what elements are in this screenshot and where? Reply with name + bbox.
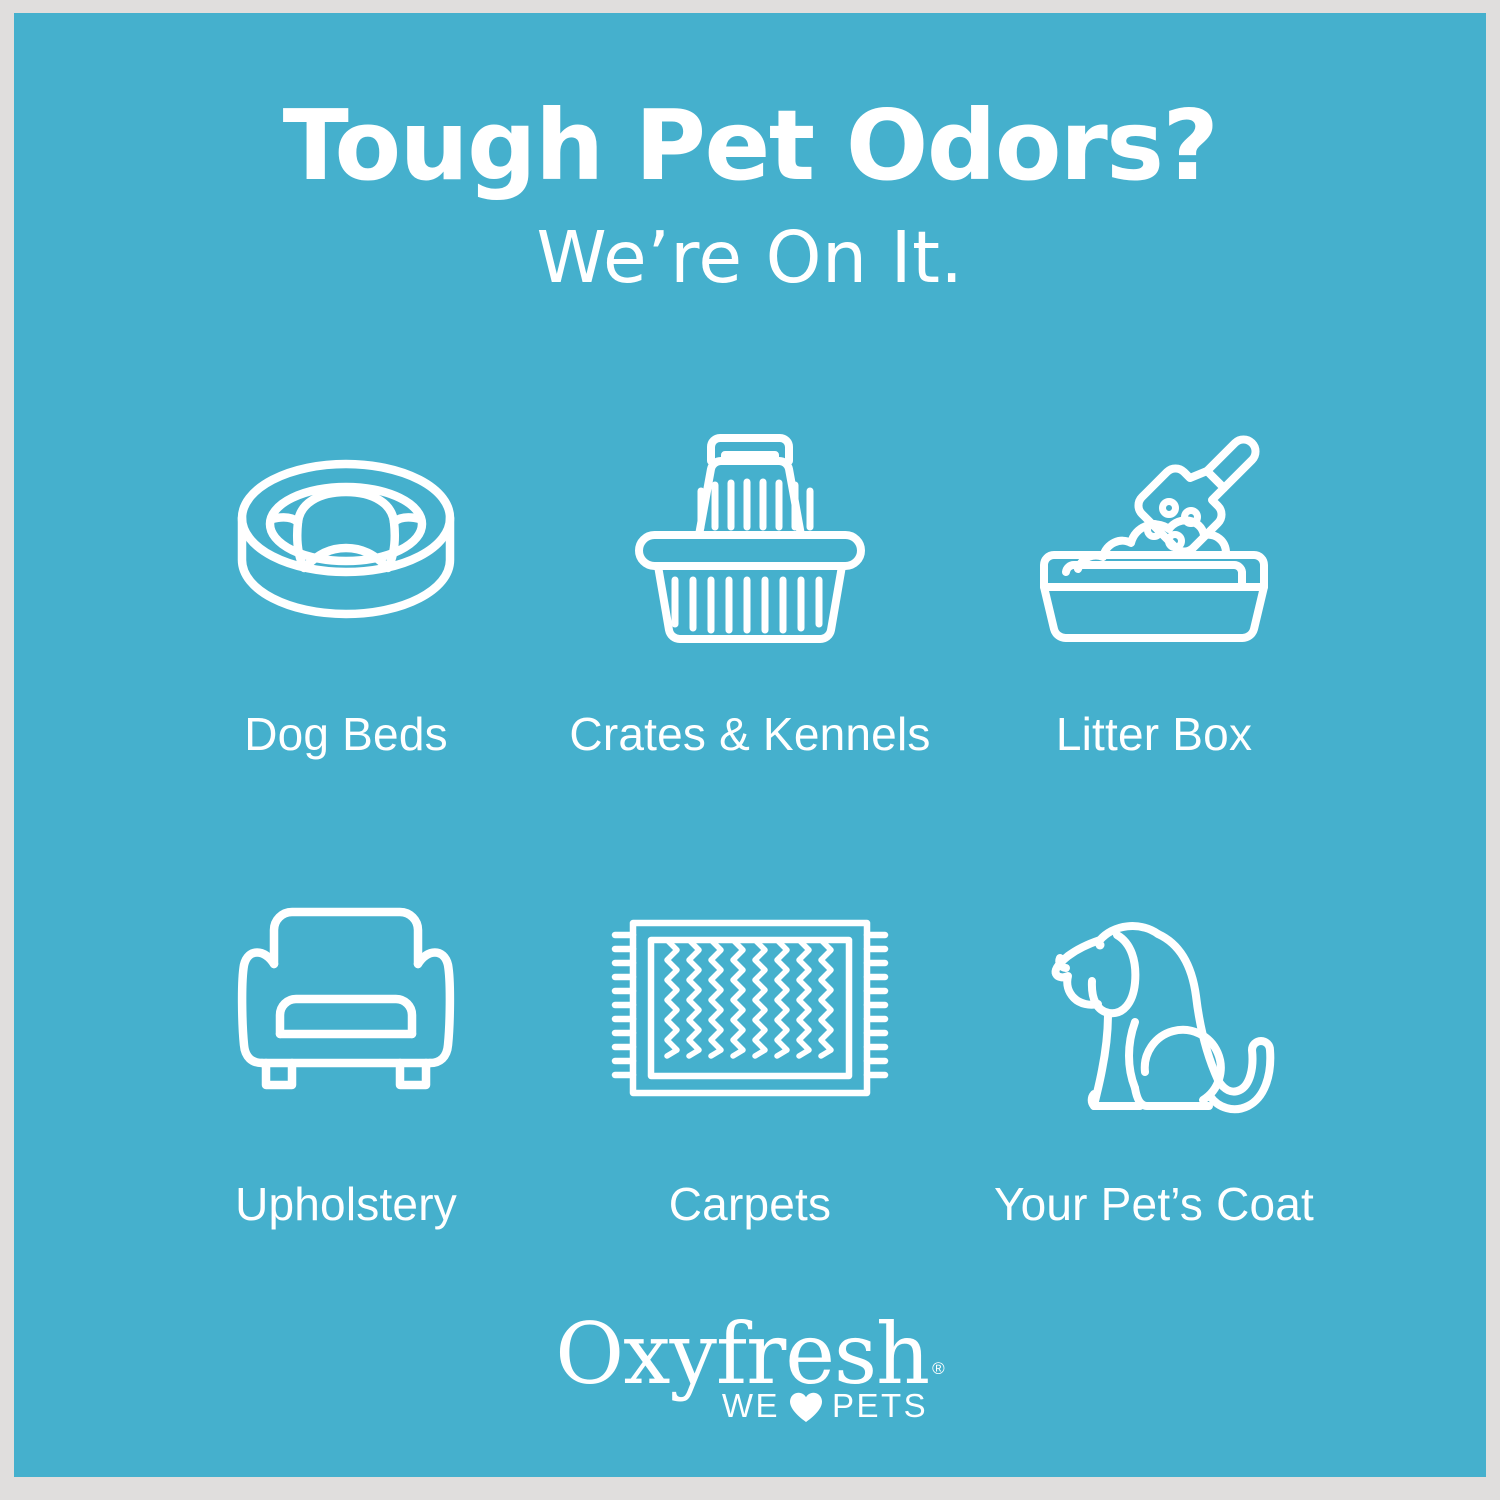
category-item-pet-coat[interactable]: Your Pet’s Coat	[952, 883, 1356, 1231]
dog-bed-icon	[231, 413, 461, 663]
registered-mark-icon: ®	[932, 1360, 945, 1377]
category-row: Dog Beds	[144, 413, 1356, 761]
logo-wordmark: Oxyfresh ®	[555, 1316, 944, 1393]
poster-canvas: Tough Pet Odors? We’re On It.	[14, 13, 1486, 1477]
sitting-dog-icon	[1042, 883, 1267, 1133]
page-title: Tough Pet Odors?	[14, 97, 1486, 194]
category-item-litter-box[interactable]: Litter Box	[952, 413, 1356, 761]
category-grid: Dog Beds	[144, 413, 1356, 1231]
page-subtitle: We’re On It.	[14, 222, 1486, 293]
armchair-icon	[236, 883, 456, 1133]
category-label: Carpets	[669, 1177, 831, 1231]
brand-logo[interactable]: Oxyfresh ® WE PETS	[14, 1316, 1486, 1425]
category-item-dog-beds[interactable]: Dog Beds	[144, 413, 548, 761]
category-item-crates-kennels[interactable]: Crates & Kennels	[548, 413, 952, 761]
category-label: Upholstery	[235, 1177, 457, 1231]
category-item-carpets[interactable]: Carpets	[548, 883, 952, 1231]
headline-block: Tough Pet Odors? We’re On It.	[14, 97, 1486, 293]
category-label: Dog Beds	[244, 707, 448, 761]
category-label: Your Pet’s Coat	[994, 1177, 1314, 1231]
heart-icon	[789, 1392, 823, 1423]
pet-crate-icon	[625, 413, 875, 663]
category-row: Upholstery	[144, 883, 1356, 1231]
category-label: Litter Box	[1056, 707, 1252, 761]
carpet-rug-icon	[609, 883, 891, 1133]
litter-box-icon	[1030, 413, 1278, 663]
category-item-upholstery[interactable]: Upholstery	[144, 883, 548, 1231]
logo-word-text: Oxyfresh	[555, 1316, 929, 1393]
category-label: Crates & Kennels	[569, 707, 930, 761]
